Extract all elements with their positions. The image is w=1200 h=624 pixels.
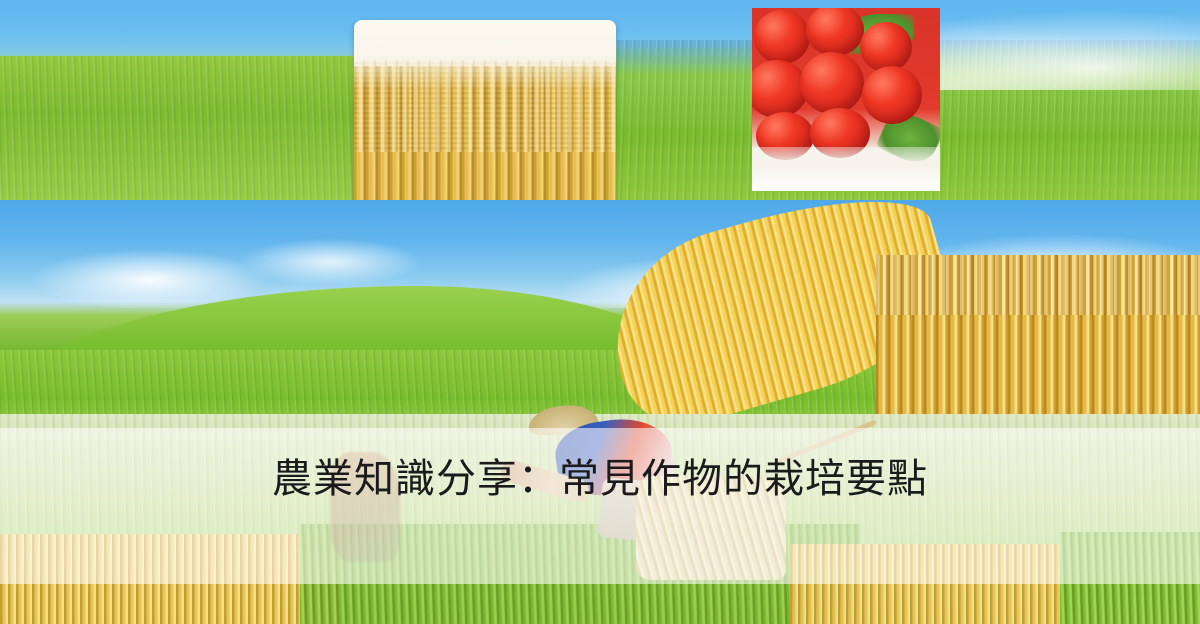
tomato-fruit [754,10,810,64]
golden-wheat-block-highlight [876,255,1200,315]
wheat-card-highlight [354,20,616,90]
page-title: 農業知識分享：常見作物的栽培要點 [0,448,1200,510]
tomato-photo-card [752,8,940,191]
tomato-fruit [800,52,864,114]
tomato-table-surface [752,147,940,191]
tomato-fruit [860,22,912,72]
tomato-fruit [862,66,922,124]
image-canvas: 農業知識分享：常見作物的栽培要點 [0,0,1200,624]
